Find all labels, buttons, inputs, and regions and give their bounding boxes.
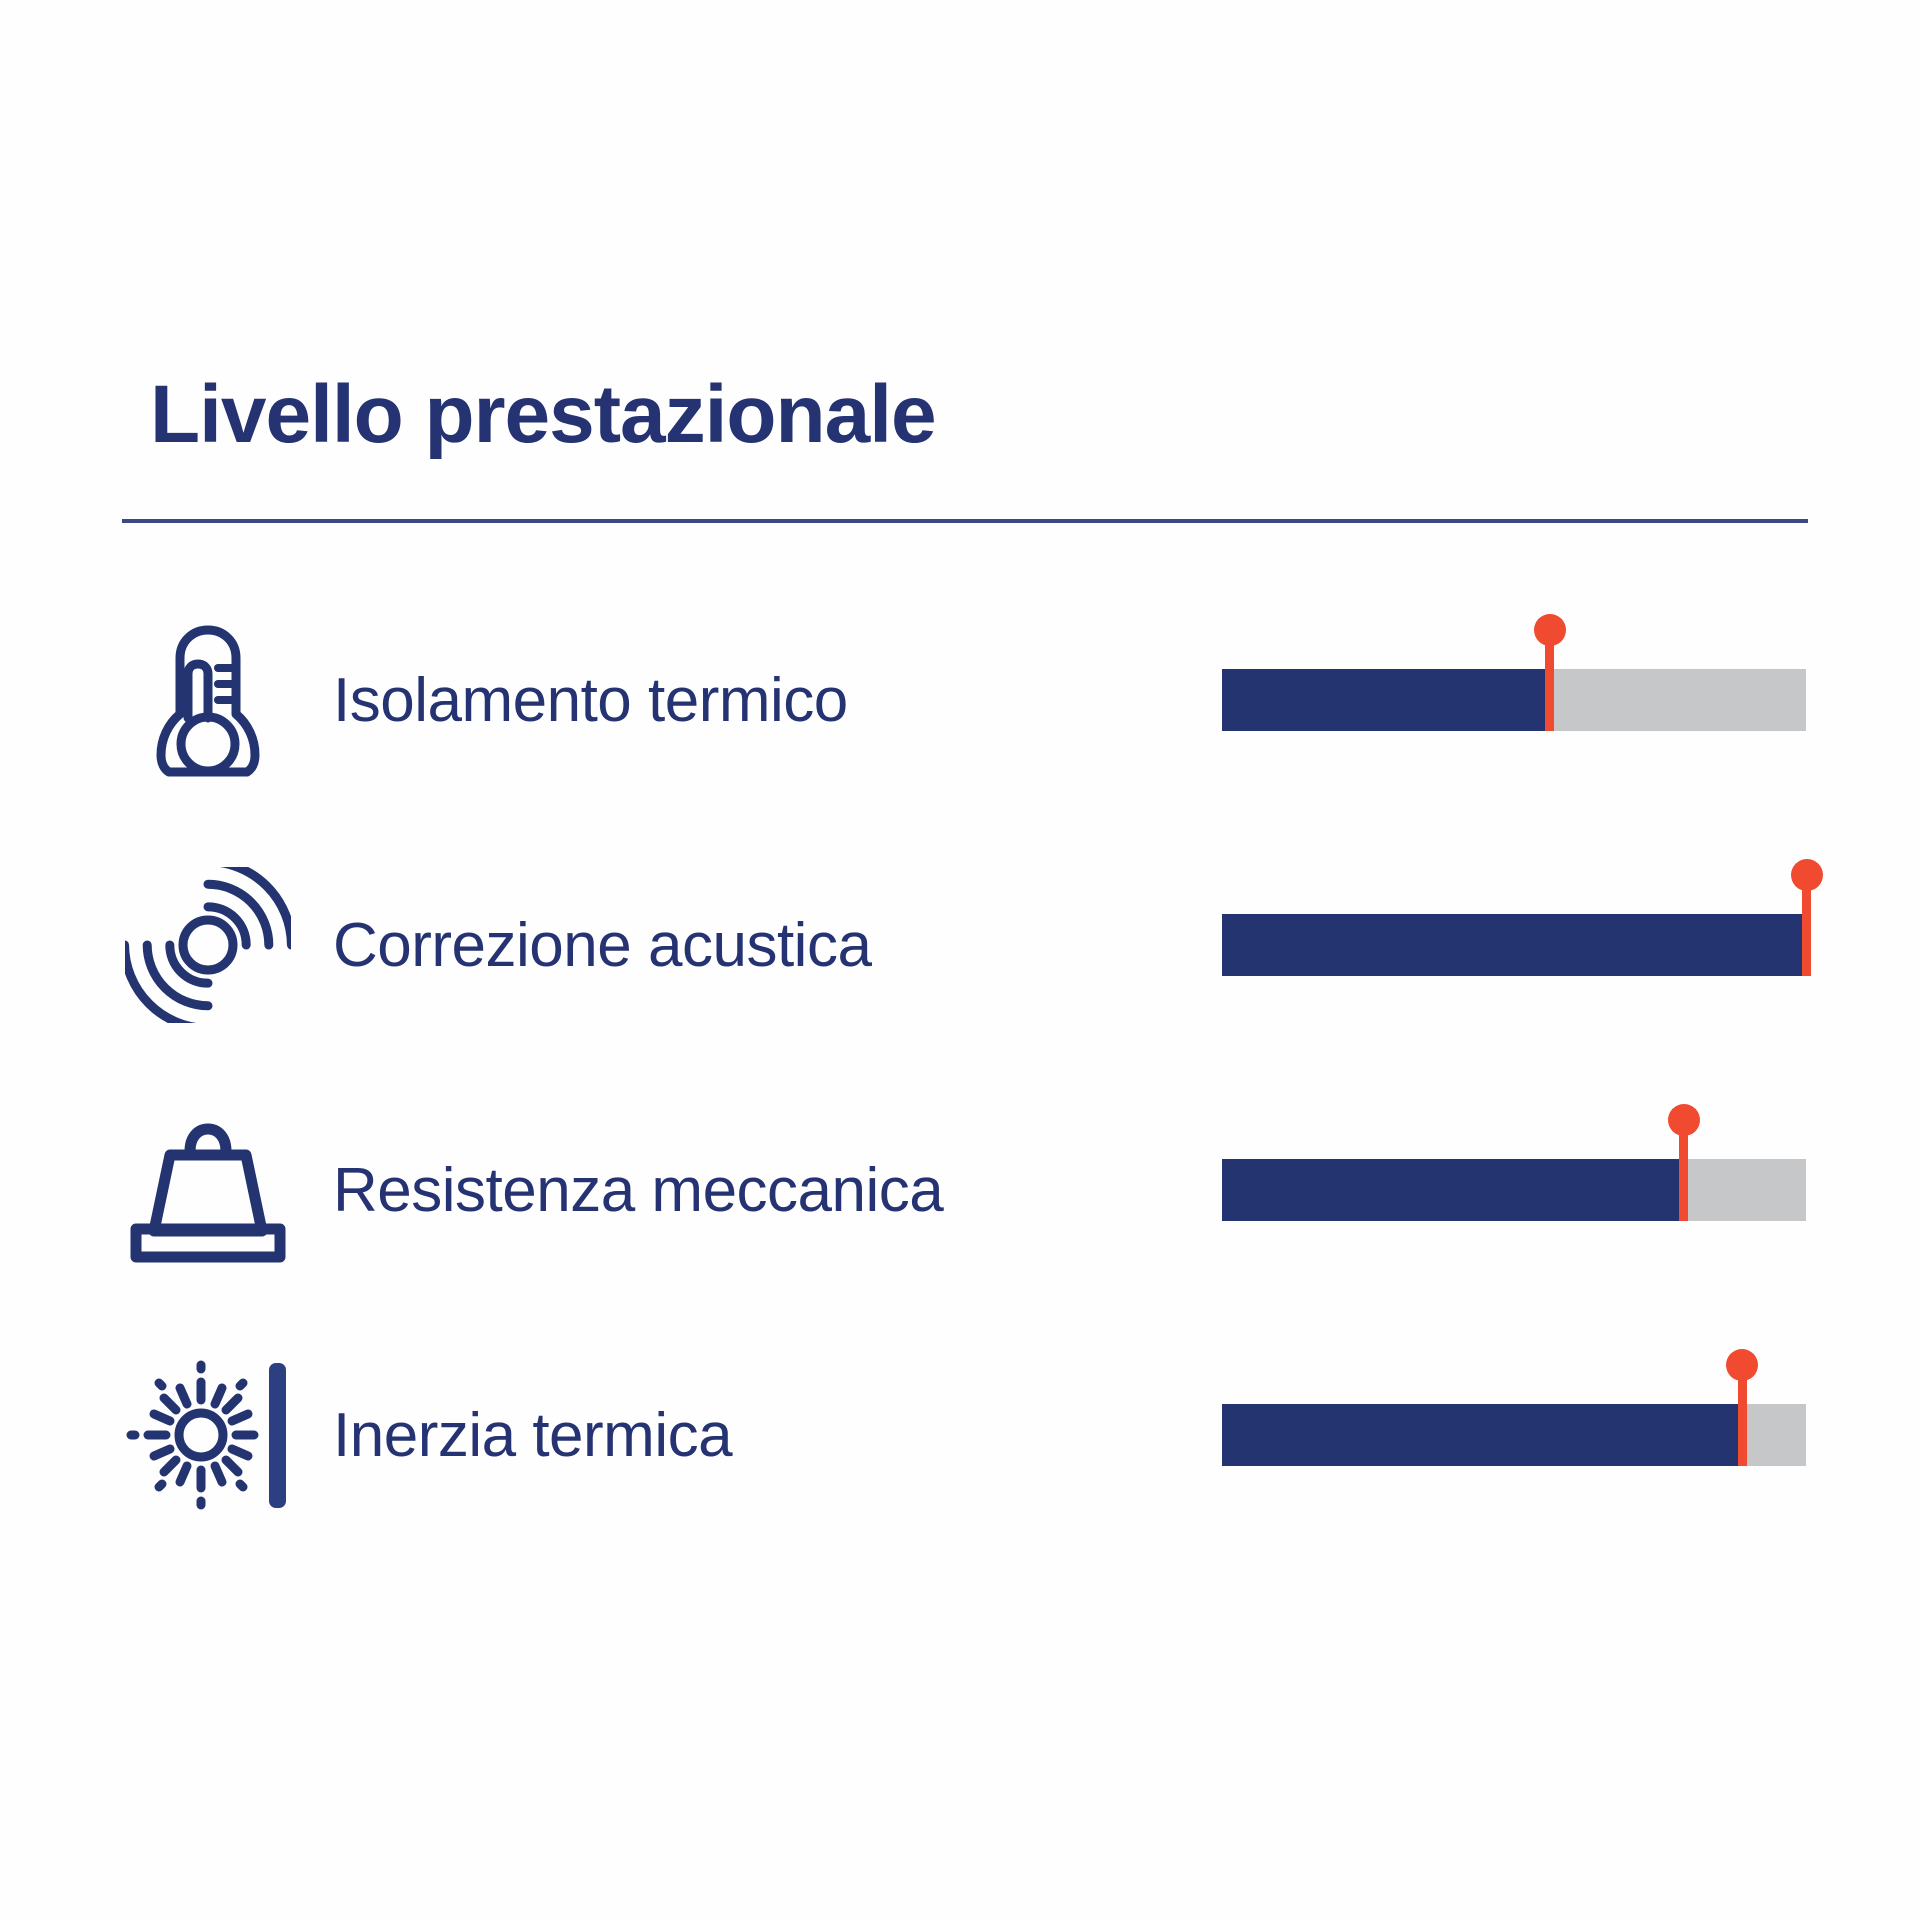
performance-meter [1222, 669, 1806, 731]
performance-meter [1222, 914, 1806, 976]
meter-pin-marker [1545, 625, 1554, 731]
performance-row: Correzione acustica [0, 845, 1920, 1045]
sun-wall-icon [118, 1335, 298, 1535]
performance-row: Isolamento termico [0, 600, 1920, 800]
performance-row-label: Correzione acustica [333, 845, 871, 1045]
infographic-page: Livello prestazionale Isolamento termico [0, 0, 1920, 1920]
performance-meter [1222, 1404, 1806, 1466]
meter-pin-marker [1679, 1115, 1688, 1221]
thermometer-icon [118, 600, 298, 800]
meter-pin-marker [1738, 1360, 1747, 1466]
performance-row: Inerzia termica [0, 1335, 1920, 1535]
meter-fill [1222, 1404, 1742, 1466]
performance-rows: Isolamento termico Correzion [0, 0, 1920, 1920]
performance-row-label: Inerzia termica [333, 1335, 732, 1535]
performance-row-label: Isolamento termico [333, 600, 848, 800]
meter-pin-marker [1802, 870, 1811, 976]
meter-fill [1222, 669, 1549, 731]
meter-fill [1222, 1159, 1683, 1221]
performance-row: Resistenza meccanica [0, 1090, 1920, 1290]
meter-fill [1222, 914, 1806, 976]
sound-waves-icon [118, 845, 298, 1045]
performance-row-label: Resistenza meccanica [333, 1090, 943, 1290]
weight-icon [118, 1090, 298, 1290]
performance-meter [1222, 1159, 1806, 1221]
